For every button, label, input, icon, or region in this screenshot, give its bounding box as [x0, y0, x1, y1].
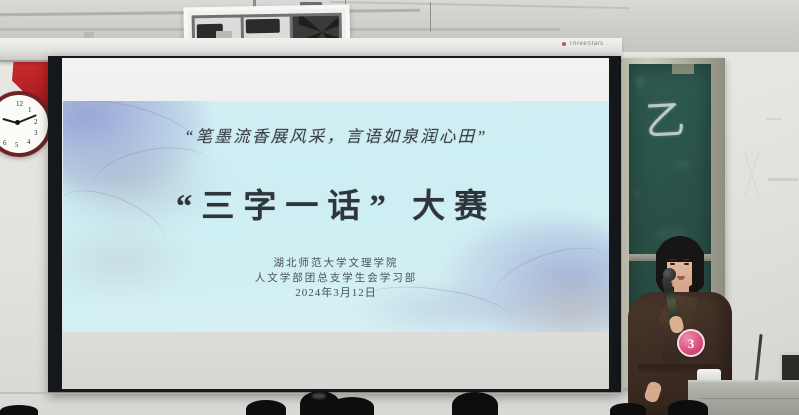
clock-numeral: 12	[16, 100, 23, 108]
projector-equipment	[246, 19, 280, 34]
audience-head	[610, 403, 646, 415]
wall-crack	[736, 150, 770, 196]
chalk-smudge	[672, 160, 694, 169]
clock-numeral: 1	[28, 106, 32, 114]
audience-head	[668, 400, 708, 415]
slide-footer-date: 2024年3月12日	[63, 286, 609, 302]
blackboard-chalk-writing: 乙	[644, 87, 687, 147]
screen-brand-label: ThreeStars	[562, 41, 604, 47]
clock-numeral: 4	[27, 138, 31, 146]
clock-numeral: 6	[3, 139, 7, 147]
brand-dot-icon	[562, 42, 566, 46]
badge-number: 3	[688, 337, 695, 350]
clock-numeral: 5	[15, 141, 19, 149]
ceiling-wire	[430, 2, 431, 32]
wall-scuff	[766, 118, 782, 120]
hair-side	[692, 248, 704, 290]
eye	[670, 263, 675, 265]
slide-footer-dept: 人文学部团总支学生会学习部	[63, 271, 609, 286]
audience-head	[0, 405, 38, 415]
slide-content: “笔墨流香展风采，言语如泉润心田” “三字一话” 大赛 湖北师范大学文理学院 人…	[63, 101, 609, 332]
slide-footer: 湖北师范大学文理学院 人文学部团总支学生会学习部 2024年3月12日	[63, 256, 609, 302]
desk-seam	[700, 398, 799, 399]
contestant-number-badge: 3	[677, 329, 705, 357]
audience-head	[452, 392, 498, 415]
clock-numeral: 2	[34, 118, 38, 126]
slide-footer-org: 湖北师范大学文理学院	[63, 256, 609, 271]
chalk-smudge	[636, 76, 644, 88]
hair-highlight	[312, 393, 326, 399]
eye	[684, 263, 689, 265]
slide-subtitle: “笔墨流香展风采，言语如泉润心田”	[63, 123, 609, 147]
wall-scuff	[768, 178, 798, 181]
projected-slide: “笔墨流香展风采，言语如泉润心田” “三字一话” 大赛 湖北师范大学文理学院 人…	[63, 101, 609, 332]
audience-head	[330, 397, 374, 415]
blackboard-tape	[672, 64, 694, 74]
chalk-smudge	[634, 190, 640, 197]
eyebrow	[669, 259, 676, 260]
clock-numeral: 3	[34, 129, 38, 137]
eyebrow	[683, 259, 690, 260]
clock-center-pin	[15, 120, 20, 125]
brand-text: ThreeStars	[569, 41, 604, 47]
slide-title: “三字一话” 大赛	[63, 179, 609, 227]
audience-head	[246, 400, 286, 415]
classroom-photo: 12 1 2 3 4 5 6	[0, 0, 799, 415]
